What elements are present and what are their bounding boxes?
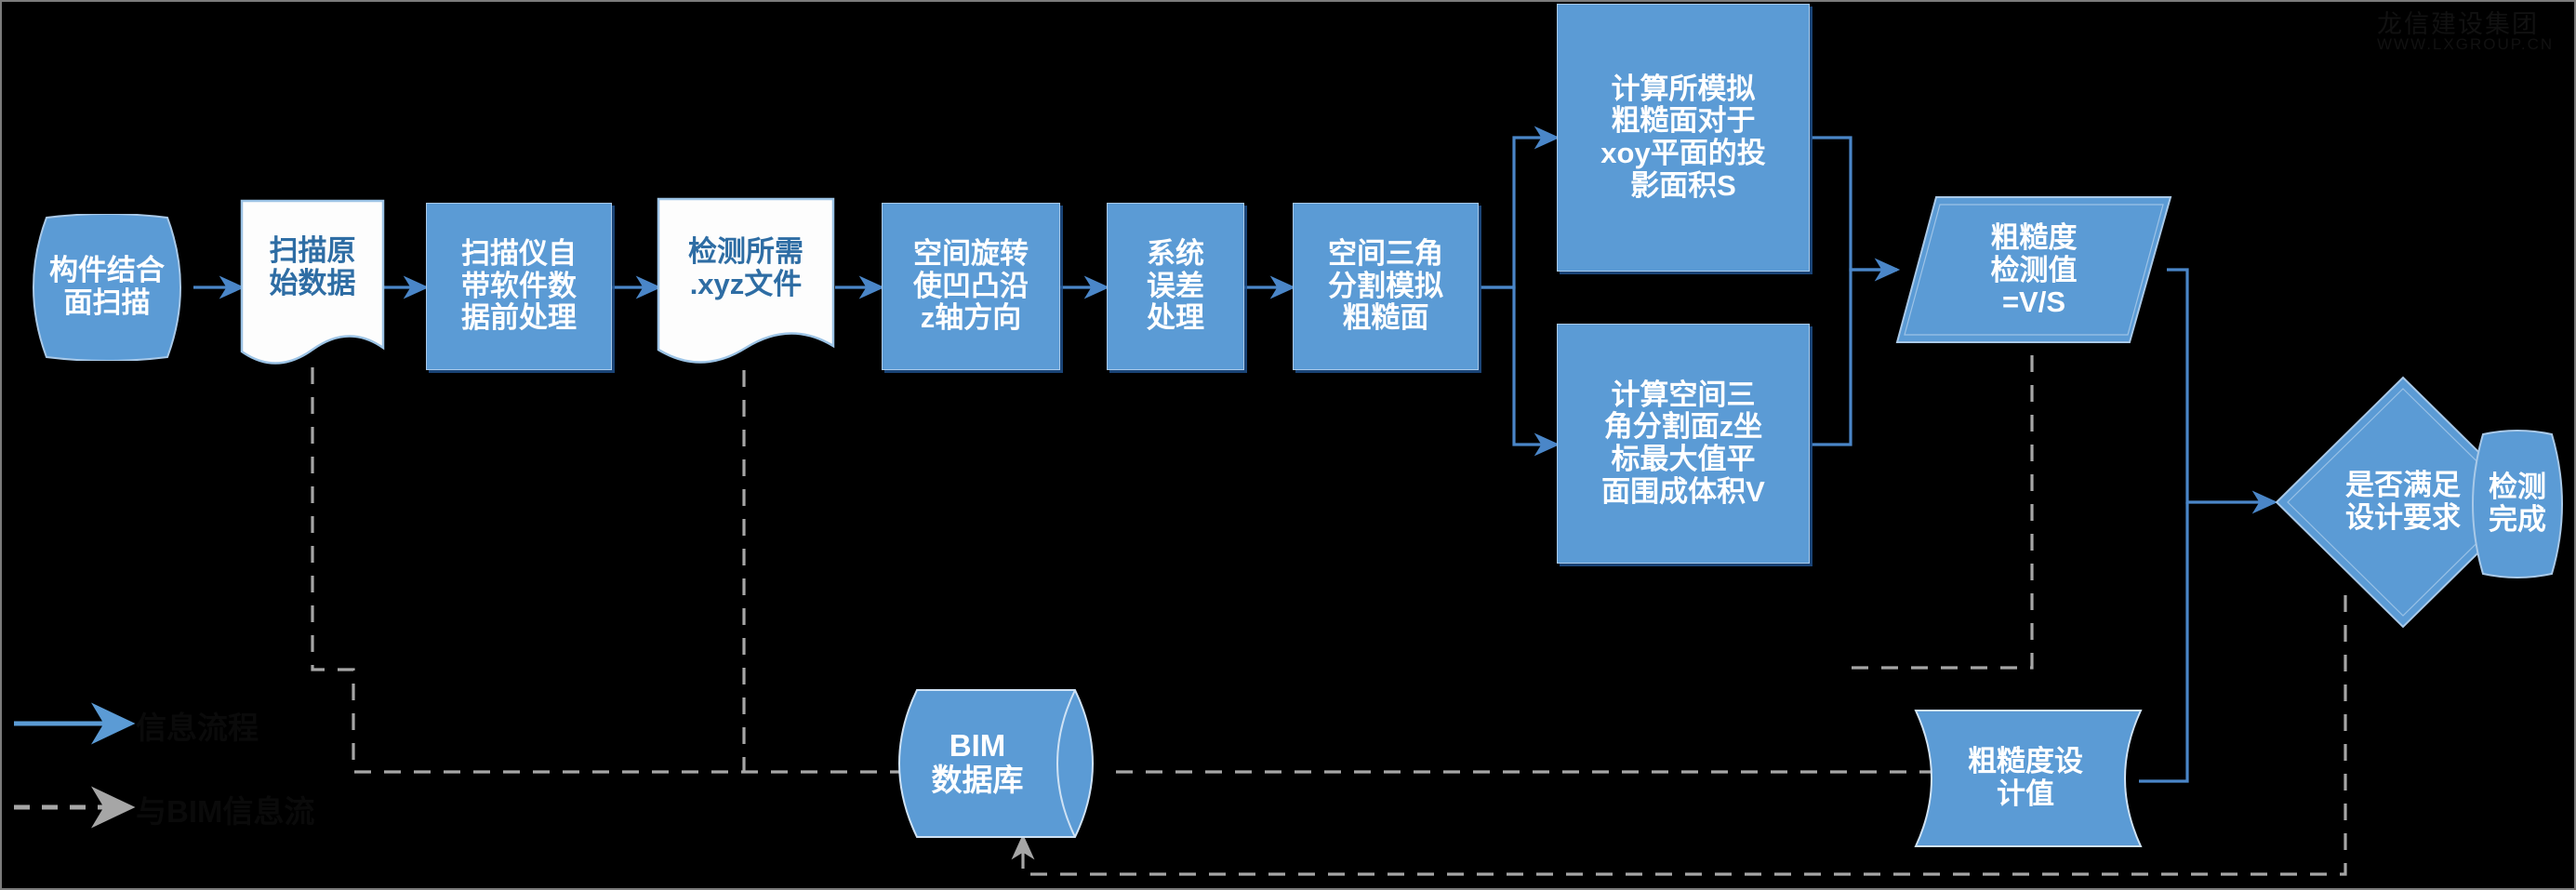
watermark-line2: WWW.LXGROUP.CN — [2377, 35, 2554, 54]
node-decision-label: 是否满足 设计要求 — [2342, 470, 2464, 534]
node-design-value[interactable]: 粗糙度设 计值 — [1893, 705, 2143, 852]
edge-tri-to-area — [1481, 138, 1557, 287]
node-triangulate[interactable]: 空间三角 分割模拟 粗糙面 — [1293, 203, 1479, 370]
node-rotate-label: 空间旋转 使凹凸沿 z轴方向 — [910, 238, 1032, 335]
node-pre-process-label: 扫描仪自 带软件数 据前处理 — [458, 238, 580, 335]
node-error[interactable]: 系统 误差 处理 — [1107, 203, 1244, 370]
node-volume-v[interactable]: 计算空间三 角分割面z坐 标最大值平 面围成体积V — [1557, 324, 1810, 564]
node-raw-data[interactable]: 扫描原 始数据 — [240, 199, 385, 370]
node-area-s[interactable]: 计算所模拟 粗糙面对于 xoy平面的投 影面积S — [1557, 4, 1810, 272]
node-rotate[interactable]: 空间旋转 使凹凸沿 z轴方向 — [882, 203, 1060, 370]
node-volume-v-label: 计算空间三 角分割面z坐 标最大值平 面围成体积V — [1598, 379, 1769, 509]
node-design-value-label: 粗糙度设 计值 — [1964, 746, 2087, 810]
node-raw-data-label: 扫描原 始数据 — [266, 235, 360, 299]
edge-volume-to-value — [1812, 270, 1897, 445]
node-triangulate-label: 空间三角 分割模拟 粗糙面 — [1324, 238, 1447, 335]
edge-area-to-value — [1812, 138, 1897, 270]
flowchart-canvas: 构件结合 面扫描 扫描原 始数据 扫描仪自 带软件数 据前处理 检测所需 .xy… — [0, 0, 2576, 890]
node-bim-database[interactable]: BIM 数据库 — [883, 686, 1116, 841]
node-xyz-file-label: 检测所需 .xyz文件 — [684, 236, 807, 300]
node-finish[interactable]: 检测 完成 — [2461, 430, 2574, 578]
edge-raw-to-bim — [312, 367, 949, 772]
edge-tri-to-volume — [1481, 287, 1557, 445]
node-start[interactable]: 构件结合 面扫描 — [19, 214, 195, 361]
edge-layer — [0, 0, 2576, 890]
node-bim-database-label: BIM 数据库 — [928, 729, 1028, 798]
node-roughness-value-label: 粗糙度 检测值 =V/S — [1987, 222, 2081, 319]
node-start-label: 构件结合 面扫描 — [46, 255, 168, 319]
node-error-label: 系统 误差 处理 — [1143, 238, 1208, 335]
edge-value-to-bimline — [1841, 325, 2032, 668]
node-finish-label: 检测 完成 — [2485, 472, 2550, 536]
node-pre-process[interactable]: 扫描仪自 带软件数 据前处理 — [426, 203, 612, 370]
edge-value-to-decision — [2167, 270, 2275, 502]
node-roughness-value[interactable]: 粗糙度 检测值 =V/S — [1895, 193, 2172, 348]
node-area-s-label: 计算所模拟 粗糙面对于 xoy平面的投 影面积S — [1597, 73, 1769, 203]
node-xyz-file[interactable]: 检测所需 .xyz文件 — [657, 197, 835, 370]
legend-item-dashed-label: 与BIM信息流 — [136, 787, 315, 831]
legend-item-solid-label: 信息流程 — [136, 703, 259, 748]
